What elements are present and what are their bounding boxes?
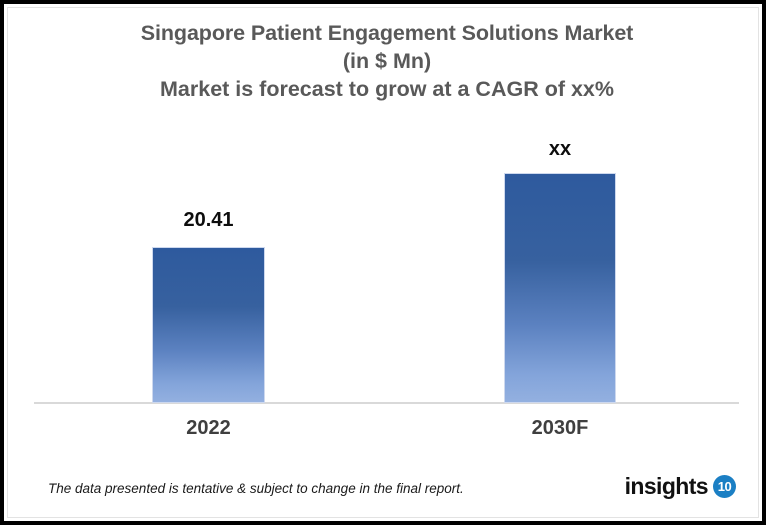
insights10-logo[interactable]: insights 10 [625, 475, 736, 498]
bar-2022[interactable] [152, 247, 265, 403]
bar-value-label-2030f: xx [474, 138, 646, 161]
logo-badge-icon: 10 [713, 475, 736, 498]
chart-slide: Singapore Patient Engagement Solutions M… [0, 0, 766, 525]
plot-area: 20.41 2022 xx 2030F [4, 4, 766, 525]
bar-value-label-2022: 20.41 [122, 209, 295, 232]
category-label-2030f: 2030F [474, 417, 646, 440]
category-label-2022: 2022 [122, 417, 295, 440]
logo-wordmark: insights [625, 475, 708, 498]
bar-2030f[interactable] [504, 173, 616, 403]
x-axis-line [34, 402, 739, 404]
disclaimer-footnote: The data presented is tentative & subjec… [48, 481, 464, 496]
